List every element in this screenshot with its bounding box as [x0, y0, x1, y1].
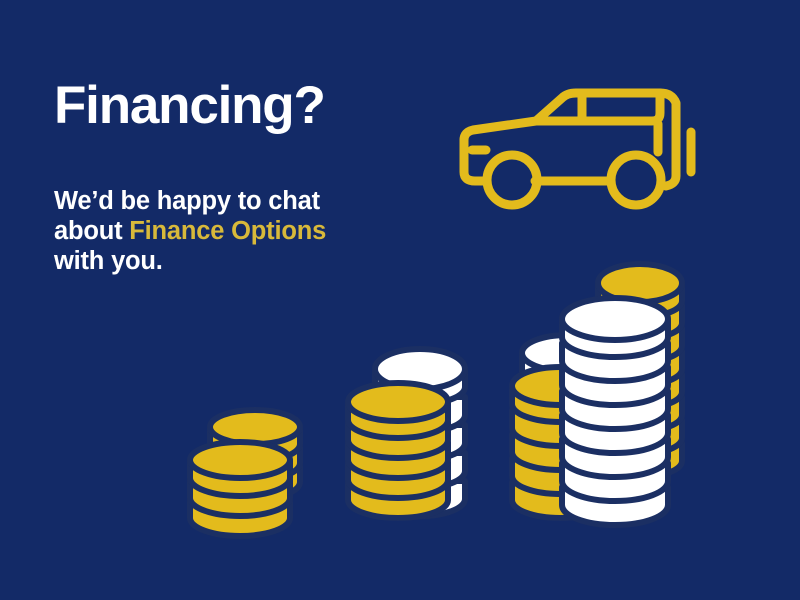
front-stack	[348, 383, 448, 518]
front-stack	[190, 442, 290, 536]
car-suv-icon	[450, 80, 710, 220]
finance-options-highlight: Finance Options	[129, 217, 326, 245]
body-line-1: We’d be happy to chat	[54, 186, 384, 216]
center-stack	[562, 298, 668, 525]
coin-stacks-svg	[0, 250, 800, 550]
body-line-2: about Finance Options	[54, 216, 384, 246]
car-illustration	[450, 80, 710, 220]
coin-stack-group-small	[190, 410, 300, 536]
coin-stack-group-large	[512, 264, 682, 525]
slide-canvas: Financing? We’d be happy to chat about F…	[0, 0, 800, 600]
coin-stack-group-medium	[348, 349, 465, 518]
page-title: Financing?	[54, 78, 325, 134]
coin-stacks-illustration	[0, 250, 800, 550]
body-line-2-prefix: about	[54, 217, 129, 245]
